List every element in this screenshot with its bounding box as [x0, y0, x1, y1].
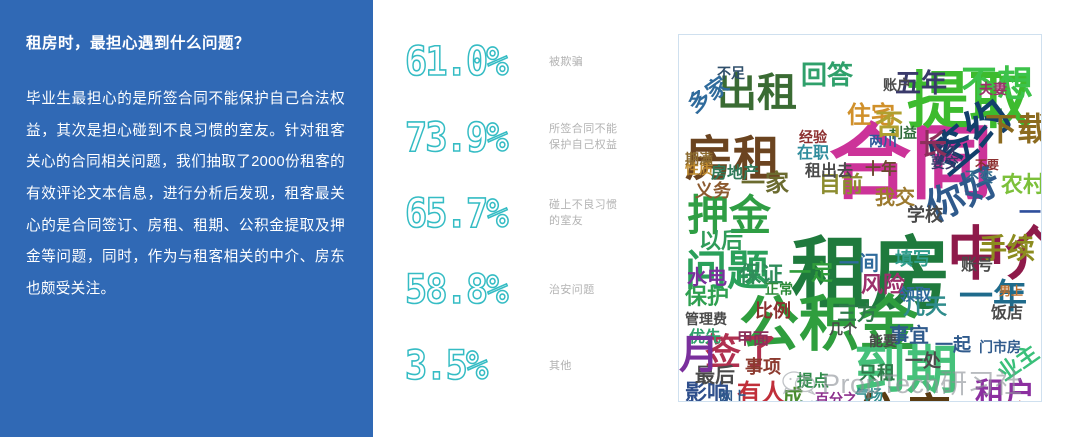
- word-cloud-term: 一定: [789, 263, 833, 285]
- word-cloud-term: 保护: [685, 287, 729, 309]
- word-cloud-term: 一间: [839, 253, 879, 273]
- stat-label: 被欺骗: [535, 54, 670, 71]
- word-cloud-term: 饭店: [991, 305, 1023, 321]
- word-cloud-term: 经验: [799, 131, 827, 145]
- watermark: PropTech研习社: [782, 362, 1023, 401]
- statistics-list: 61.0%被欺骗73.9%所签合同不能保护自己权益65.7%碰上不良习惯的室友5…: [405, 28, 670, 418]
- page-title: 租房时，最担心遇到什么问题？: [26, 34, 345, 54]
- word-cloud-term: 义务: [695, 183, 731, 201]
- word-cloud-term: 甲面: [737, 331, 769, 347]
- word-cloud-term: 夫妻: [979, 83, 1007, 97]
- stat-row: 61.0%被欺骗: [405, 34, 670, 90]
- word-cloud-term: 网上: [719, 391, 747, 402]
- word-cloud-term: 在线: [797, 401, 821, 402]
- word-cloud-term: 账户: [883, 79, 911, 93]
- stat-label-line: 保护自己权益: [549, 138, 670, 154]
- stat-row: 73.9%所签合同不能保护自己权益: [405, 110, 670, 166]
- left-info-panel: 租房时，最担心遇到什么问题？ 毕业生最担心的是所签合同不能保护自己合法权益，其次…: [0, 0, 373, 437]
- word-cloud-term: 门市房: [979, 341, 1021, 355]
- word-cloud-term: 学校: [907, 207, 943, 225]
- word-cloud-term: 回答: [801, 63, 853, 89]
- word-cloud-term: 正常: [765, 283, 793, 297]
- word-cloud-term: 长: [919, 131, 947, 159]
- word-cloud-term: 月: [679, 335, 719, 375]
- word-cloud-term: 能要: [869, 335, 897, 349]
- word-cloud-term: 管理费: [685, 313, 727, 327]
- stat-label-line: 所签合同不能: [549, 122, 670, 138]
- stat-row: 65.7%碰上不良习惯的室友: [405, 186, 670, 242]
- word-cloud-term: 否: [875, 111, 903, 139]
- wechat-bubbles-icon: [782, 369, 816, 395]
- word-cloud-term: 租出去: [805, 163, 853, 179]
- stat-label-line: 其他: [549, 358, 670, 375]
- word-cloud-term: 年轻: [1005, 401, 1029, 402]
- stat-value: 3.5%: [405, 346, 525, 386]
- word-cloud-term: 账号: [961, 257, 993, 273]
- word-cloud-term: 我交: [875, 187, 915, 207]
- word-cloud-term: 一直: [1019, 203, 1042, 225]
- stat-label-line: 碰上不良习惯: [549, 198, 670, 214]
- word-cloud-term: 一起: [935, 337, 971, 355]
- stat-label: 所签合同不能保护自己权益: [535, 122, 670, 154]
- infographic-root: 租房时，最担心遇到什么问题？ 毕业生最担心的是所签合同不能保护自己合法权益，其次…: [0, 0, 1080, 437]
- word-cloud-term: 水电: [687, 267, 727, 287]
- stat-label: 其他: [535, 358, 670, 375]
- panel-body-text: 毕业生最担心的是所签合同不能保护自己合法权益，其次是担心碰到不良习惯的室友。针对…: [26, 84, 345, 306]
- stat-row: 58.8%治安问题: [405, 262, 670, 318]
- word-cloud-term: 领取: [899, 287, 931, 303]
- word-cloud-term: 填写: [895, 251, 931, 269]
- word-cloud-term: 三方: [837, 303, 877, 323]
- stat-row: 3.5%其他: [405, 338, 670, 394]
- word-cloud-term: 农村: [1001, 175, 1042, 197]
- word-cloud-term: 十年: [865, 161, 897, 177]
- word-cloud-term: 事项: [745, 359, 781, 377]
- word-cloud: 合同租房提取公积金中介到期住房房租出租押金问题签约不想你好签了一年下载租户手续五…: [678, 34, 1042, 402]
- stat-value: 73.9%: [405, 118, 525, 158]
- stat-label: 治安问题: [535, 282, 670, 299]
- stat-value: 58.8%: [405, 270, 525, 310]
- word-cloud-term: 比例: [755, 303, 791, 321]
- stat-label: 碰上不良习惯的室友: [535, 198, 670, 230]
- watermark-text: PropTech研习社: [822, 362, 1023, 401]
- word-cloud-term: 在职: [797, 145, 829, 161]
- stat-label-line: 被欺骗: [549, 54, 670, 71]
- stat-label-line: 的室友: [549, 214, 670, 230]
- word-cloud-term: 不要: [975, 159, 999, 171]
- stat-value: 61.0%: [405, 42, 525, 82]
- word-cloud-term: 期满: [685, 153, 713, 167]
- stat-value: 65.7%: [405, 194, 525, 234]
- word-cloud-term: 以后: [699, 231, 743, 253]
- word-cloud-term: 不变: [965, 171, 993, 185]
- word-cloud-term: 几个: [829, 323, 857, 337]
- stat-label-line: 治安问题: [549, 282, 670, 299]
- word-cloud-term: 一家: [741, 171, 789, 195]
- word-cloud-term: 男上: [999, 285, 1023, 297]
- word-cloud-term: 下载: [985, 113, 1042, 145]
